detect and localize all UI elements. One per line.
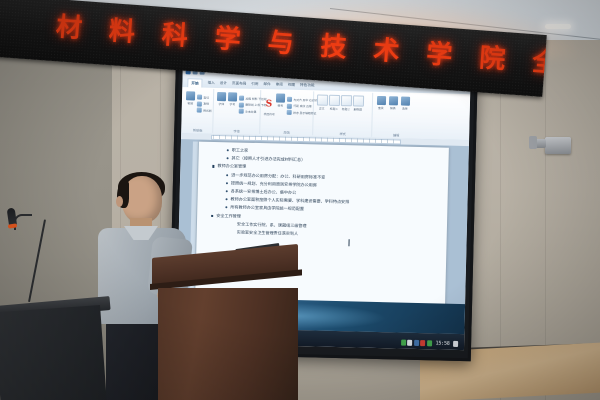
font-button[interactable]: 字体 [217, 92, 226, 106]
style-heading1-button[interactable]: 标题 1 [329, 95, 339, 111]
taskbar-clock[interactable]: 15:58 [435, 340, 449, 346]
network-icon[interactable] [401, 340, 406, 346]
group-label-editing: 编辑 [373, 131, 419, 137]
ribbon-group-paragraph: S 项目符号 编号 左对齐 居中 右对齐 [261, 90, 314, 135]
style-normal-button[interactable]: 正文 [317, 94, 327, 110]
format-painter-button[interactable]: 格式刷 [197, 108, 212, 113]
bullet-icon [227, 149, 229, 151]
action-center-icon[interactable] [453, 341, 458, 347]
strike-icon [239, 102, 244, 107]
style-heading2-icon [341, 95, 352, 106]
volume-icon[interactable] [407, 340, 412, 346]
replace-icon [388, 96, 397, 105]
ribbon-body: 粘贴 剪切 复制 [181, 87, 470, 141]
screenshot-root: 文档1 - Microsoft Word 开始 插入 设计 页面布局 引用 邮件… [0, 0, 600, 400]
sort-button[interactable]: 排序 显示编辑标记 [287, 110, 318, 116]
bullet-icon [226, 174, 228, 176]
bullet-list-button[interactable]: S 项目符号 [264, 93, 275, 116]
bold-icon [239, 96, 244, 101]
ribbon-group-editing: 查找 替换 选择 编辑 [373, 93, 420, 138]
list-item: 实验室安全卫生管理责任落实到人 [237, 229, 437, 239]
ribbon-group-styles: 正文 标题 1 标题 2 副标题 [314, 91, 373, 136]
conference-table-front [0, 305, 107, 400]
tab-home[interactable]: 开始 [187, 78, 202, 87]
tab-insert[interactable]: 插入 [208, 81, 215, 86]
tab-special[interactable]: 特色功能 [300, 83, 314, 88]
find-icon [376, 96, 385, 105]
group-label-clipboard: 剪贴板 [183, 127, 212, 133]
tab-mailings[interactable]: 邮件 [263, 82, 270, 87]
bullet-icon [227, 157, 229, 159]
paste-button[interactable]: 粘贴 [186, 91, 195, 105]
align-icon [287, 97, 292, 102]
bullet-list-icon: S [266, 99, 273, 109]
line-spacing-icon [287, 103, 292, 108]
style-heading1-icon [329, 95, 340, 106]
text-effect-icon [239, 109, 244, 114]
bullet-icon [226, 198, 228, 200]
replace-button[interactable]: 替换 [388, 96, 398, 110]
cut-icon [197, 95, 202, 100]
group-label-font: 字体 [214, 127, 259, 133]
ear [116, 196, 123, 207]
ribbon-group-font: 字体 字号 加粗 倾斜 下划线 [214, 89, 261, 134]
wall-speaker [545, 137, 571, 154]
bullet-icon [225, 207, 227, 209]
select-button[interactable]: 选择 [400, 96, 410, 110]
select-icon [400, 96, 409, 105]
tab-references[interactable]: 引用 [251, 82, 258, 87]
format-painter-icon [197, 108, 202, 113]
sort-icon [287, 110, 292, 115]
style-normal-icon [317, 94, 328, 105]
tab-view[interactable]: 视图 [288, 83, 295, 88]
find-button[interactable]: 查找 [376, 96, 386, 110]
group-label-styles: 样式 [314, 130, 371, 136]
font-size-button[interactable]: 字号 [228, 92, 237, 106]
paste-icon [186, 91, 195, 100]
style-heading2-button[interactable]: 标题 2 [341, 95, 351, 111]
ime-icon[interactable] [414, 340, 419, 346]
podium-body [158, 288, 298, 400]
copy-icon [197, 101, 202, 106]
bullet-square-icon [212, 165, 214, 167]
ribbon-group-clipboard: 粘贴 剪切 复制 [183, 88, 214, 133]
bullet-icon [226, 190, 228, 192]
system-tray[interactable]: 15:58 [401, 340, 458, 347]
font-icon [217, 92, 226, 101]
font-size-icon [228, 92, 237, 101]
tab-design[interactable]: 设计 [220, 81, 227, 86]
numbered-list-button[interactable]: 编号 [276, 93, 285, 107]
align-button[interactable]: 左对齐 居中 右对齐 [287, 97, 318, 103]
shield-icon[interactable] [427, 340, 432, 346]
bullet-icon [226, 182, 228, 184]
numbered-list-icon [276, 93, 285, 102]
text-cursor [348, 239, 349, 246]
style-subtitle-button[interactable]: 副标题 [353, 95, 363, 111]
tab-page-layout[interactable]: 页面布局 [232, 81, 246, 86]
tab-review[interactable]: 审阅 [276, 82, 283, 87]
line-spacing-button[interactable]: 行距 底纹 边框 [287, 103, 318, 109]
cut-button[interactable]: 剪切 [197, 95, 212, 100]
group-label-paragraph: 段落 [261, 129, 312, 135]
bullet-square-icon [211, 214, 213, 216]
copy-button[interactable]: 复制 [197, 101, 212, 106]
style-subtitle-icon [353, 95, 364, 106]
battery-icon[interactable] [420, 340, 425, 346]
